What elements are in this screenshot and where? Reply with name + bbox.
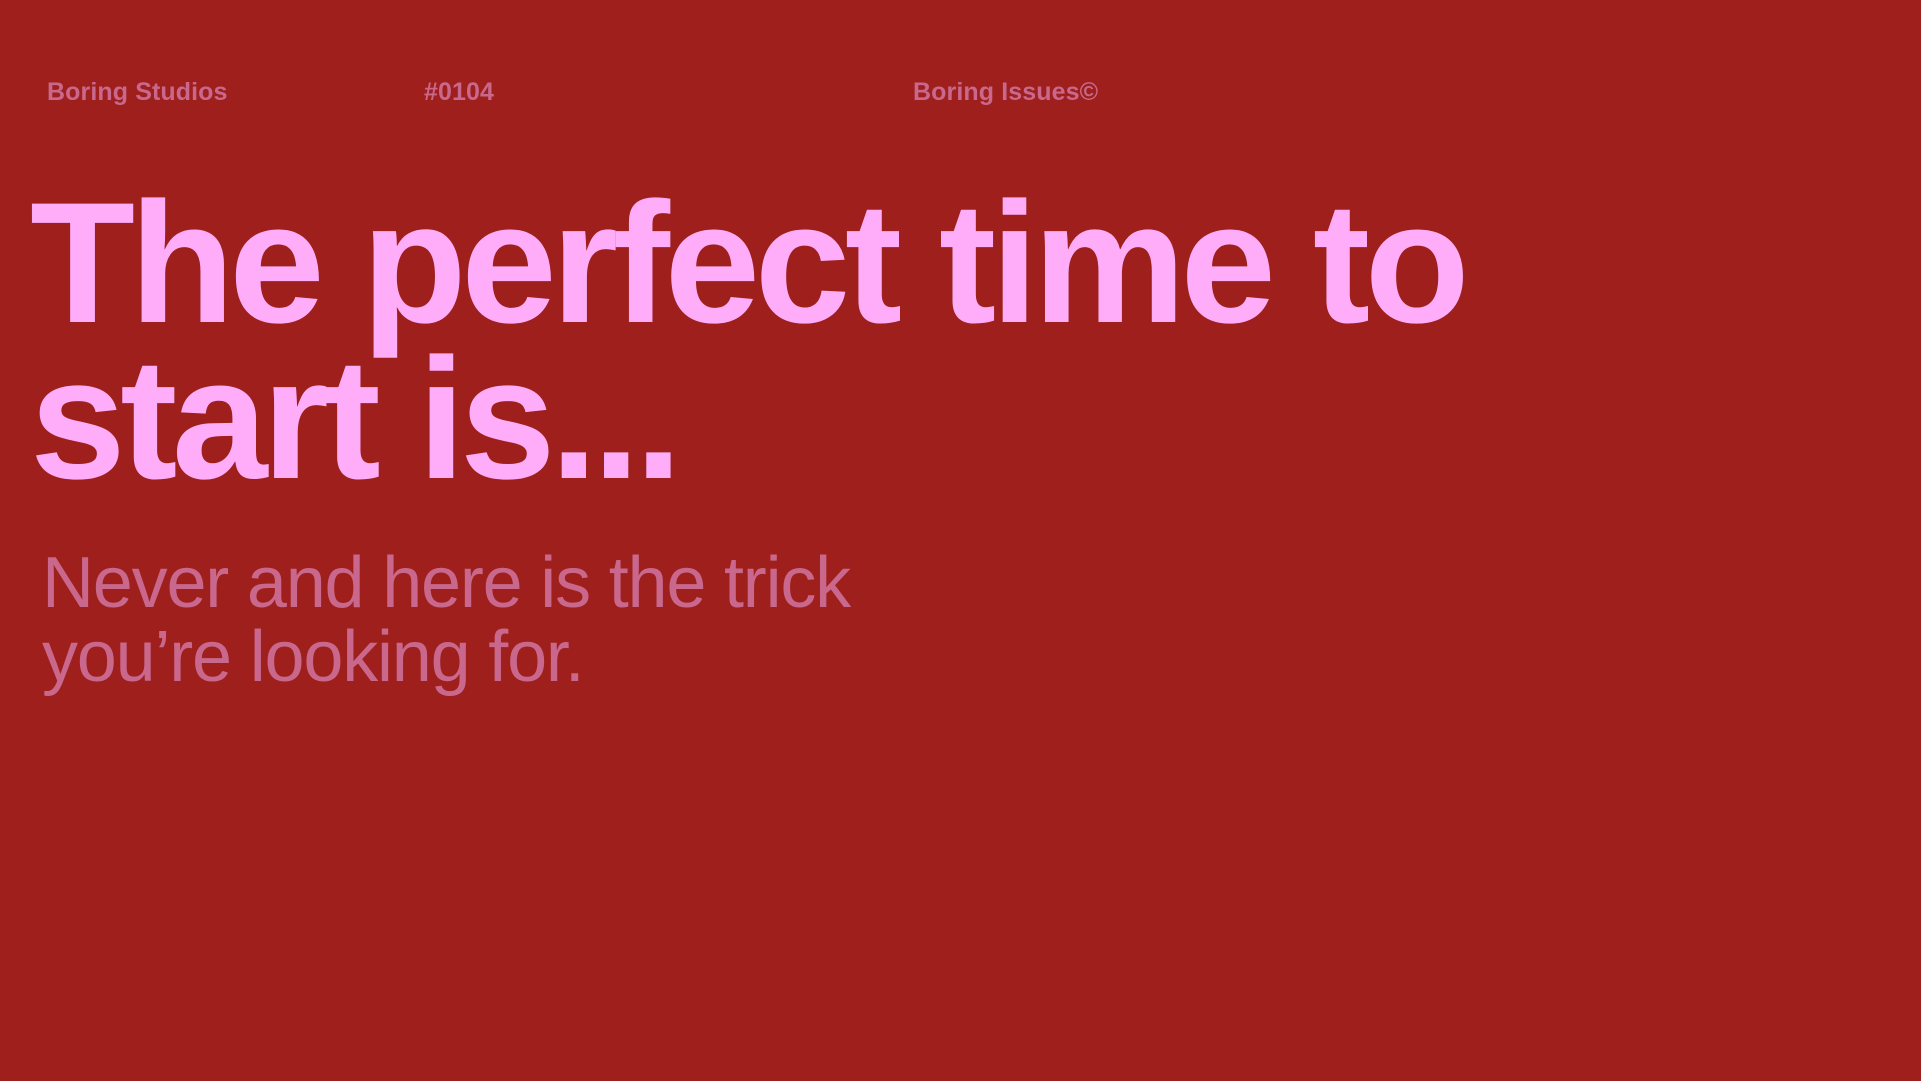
poster-slide: Boring Studios #0104 Boring Issues© The …: [0, 0, 1921, 1081]
subtitle-text: Never and here is the trick you’re looki…: [42, 546, 1242, 694]
header-meta-row: Boring Studios #0104 Boring Issues©: [0, 74, 1921, 110]
studio-name-label: Boring Studios: [47, 74, 228, 110]
issue-number-label: #0104: [424, 74, 494, 110]
brand-name-label: Boring Issues©: [913, 74, 1098, 110]
page-title: The perfect time to start is...: [30, 186, 1910, 497]
